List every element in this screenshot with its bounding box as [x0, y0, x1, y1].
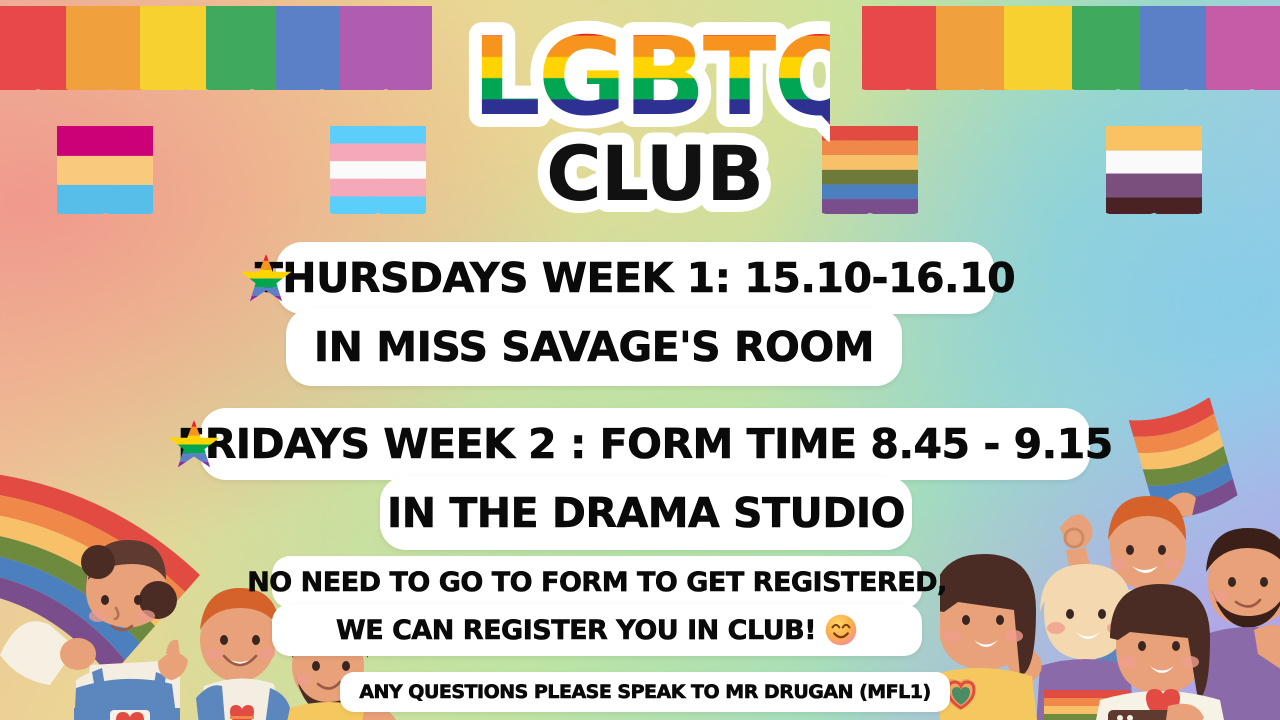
questions-contact-text: ANY QUESTIONS PLEASE SPEAK TO MR DRUGAN …: [359, 683, 930, 702]
registration-note-line1: NO NEED TO GO TO FORM TO GET REGISTERED,: [272, 556, 922, 608]
title-main-text: LGBTQ+: [472, 15, 830, 140]
poster-title-block: LGBTQ+ LGBTQ+ CLUB CLUB: [450, 2, 830, 224]
rainbow-star-icon: [168, 418, 220, 470]
smiling-face-emoji: [824, 613, 858, 647]
registration-note-line2: WE CAN REGISTER YOU IN CLUB!: [272, 604, 922, 656]
schedule-line-friday-room: IN THE DRAMA STUDIO: [380, 476, 912, 550]
registration-note-text-1: NO NEED TO GO TO FORM TO GET REGISTERED,: [247, 569, 947, 596]
pansexual-flag-heart: [57, 126, 153, 214]
schedule-friday-text: FRIDAYS WEEK 2 : FORM TIME 8.45 - 9.15: [177, 424, 1113, 465]
schedule-line-thursday-room: IN MISS SAVAGE'S ROOM: [286, 308, 902, 386]
schedule-line-friday: FRIDAYS WEEK 2 : FORM TIME 8.45 - 9.15: [200, 408, 1090, 480]
transgender-flag-heart: [330, 126, 426, 214]
rainbow-pride-flag-heart: [822, 126, 918, 214]
schedule-friday-room-text: IN THE DRAMA STUDIO: [387, 493, 905, 534]
registration-note-text-2: WE CAN REGISTER YOU IN CLUB!: [336, 617, 816, 644]
nonbinary-flag-heart: [1106, 126, 1202, 214]
heart-pink: [1206, 6, 1280, 90]
schedule-thursday-text: THURSDAYS WEEK 1: 15.10-16.10: [255, 258, 1015, 299]
schedule-line-thursday: THURSDAYS WEEK 1: 15.10-16.10: [276, 242, 994, 314]
heart-purple: [340, 6, 432, 90]
questions-contact-note: ANY QUESTIONS PLEASE SPEAK TO MR DRUGAN …: [340, 672, 950, 712]
title-sub-text: CLUB: [546, 129, 763, 218]
rainbow-star-icon: [240, 252, 292, 304]
schedule-thursday-room-text: IN MISS SAVAGE'S ROOM: [314, 327, 874, 368]
